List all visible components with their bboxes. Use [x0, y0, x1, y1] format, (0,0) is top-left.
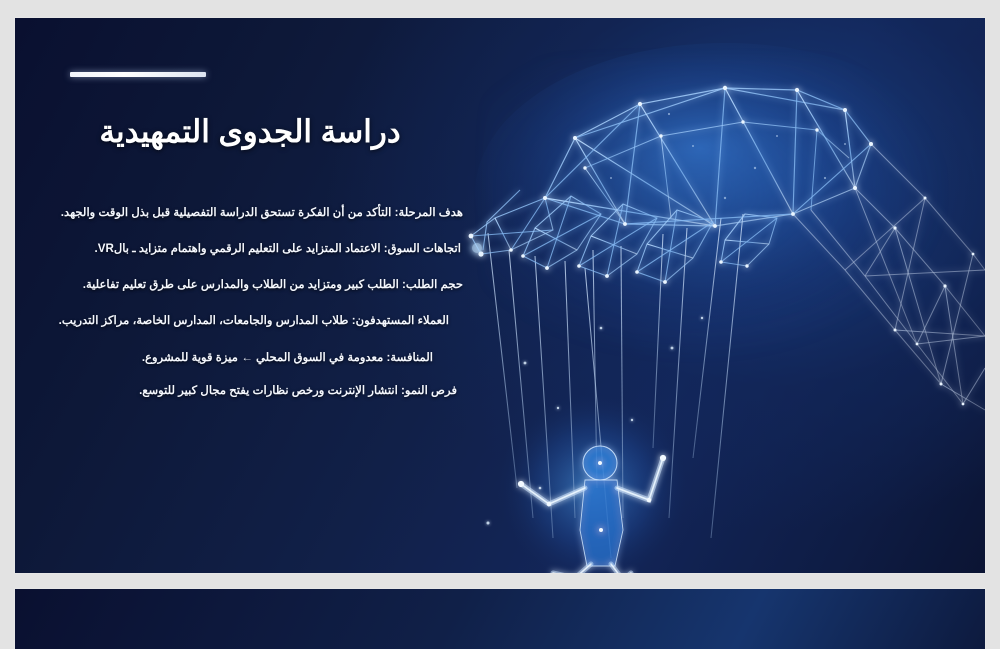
presentation-viewport: دراسة الجدوى التمهيدية هدف المرحلة: التأ… — [0, 0, 1000, 596]
wireframe-hand — [469, 86, 985, 410]
next-slide-preview[interactable] — [15, 589, 985, 649]
list-item: هدف المرحلة: التأكد من أن الفكرة تستحق ا… — [38, 203, 463, 222]
bullet-list: هدف المرحلة: التأكد من أن الفكرة تستحق ا… — [38, 203, 463, 417]
title-accent-bar — [70, 72, 206, 77]
list-item: فرص النمو: انتشار الإنترنت ورخص نظارات ي… — [38, 381, 463, 400]
slide-feasibility-study: دراسة الجدوى التمهيدية هدف المرحلة: التأ… — [15, 18, 985, 573]
list-item: اتجاهات السوق: الاعتماد المتزايد على الت… — [38, 239, 463, 258]
hand-mesh-nodes — [469, 86, 975, 406]
list-item: العملاء المستهدفون: طلاب المدارس والجامع… — [38, 311, 463, 330]
string-nodes — [487, 317, 704, 525]
slide-text-column: دراسة الجدوى التمهيدية هدف المرحلة: التأ… — [15, 18, 485, 573]
artwork-glow — [485, 58, 945, 358]
list-item: المنافسة: معدومة في السوق المحلي ← ميزة … — [38, 348, 463, 367]
list-item: حجم الطلب: الطلب كبير ومتزايد من الطلاب … — [38, 275, 463, 294]
marionette-puppet — [518, 446, 666, 573]
marionette-strings — [488, 214, 743, 563]
page-title: دراسة الجدوى التمهيدية — [70, 113, 430, 150]
wireframe-hand-marionette-illustration — [425, 18, 985, 573]
particles — [610, 113, 846, 199]
